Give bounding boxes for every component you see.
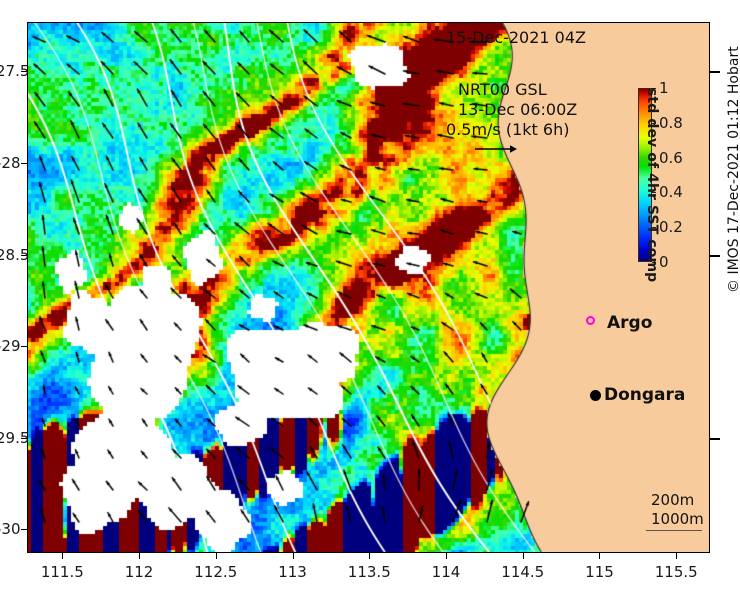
x-axis-tick [216, 553, 217, 559]
x-axis-tick [676, 553, 677, 559]
colorbar-tick-label: 0.8 [659, 114, 683, 132]
timestamp-label: 15-Dec-2021 04Z [446, 28, 586, 47]
sst-std-dev-raster [27, 22, 710, 553]
colorbar-tick [652, 227, 656, 228]
x-axis-tick [293, 553, 294, 559]
source-time-label: 13-Dec 06:00Z [458, 100, 577, 119]
argo-marker-icon [586, 316, 595, 325]
contour-legend-rule [646, 530, 702, 531]
x-axis-tick [523, 553, 524, 559]
contour-label-200m: 200m [651, 491, 694, 509]
y-axis-tick-right [710, 255, 720, 257]
colorbar-tick-label: 0 [659, 253, 669, 271]
x-axis-tick-label: 114.5 [501, 563, 544, 581]
velocity-scale-label: 0.5m/s (1kt 6h) [446, 120, 569, 139]
colorbar-tick-label: 0.6 [659, 149, 683, 167]
y-axis-tick-label: 28.5 [0, 246, 15, 264]
contour-label-1000m: 1000m [651, 510, 704, 528]
x-axis-tick-label: 115 [585, 563, 614, 581]
argo-label: Argo [607, 313, 652, 333]
colorbar-tick [652, 192, 656, 193]
figure-canvas: 15-Dec-2021 04Z NRT00 GSL 13-Dec 06:00Z … [0, 0, 740, 592]
colorbar-tick-label: 0.4 [659, 183, 683, 201]
x-axis-tick [62, 553, 63, 559]
y-axis-tick [21, 529, 27, 530]
x-axis-tick-label: 115.5 [655, 563, 698, 581]
y-axis-tick-right [710, 438, 720, 440]
x-axis-tick-label: 112 [125, 563, 154, 581]
source-product-label: NRT00 GSL [458, 80, 547, 99]
y-axis-tick-label: -30 [0, 520, 15, 538]
x-axis-tick [139, 553, 140, 559]
x-axis-tick-label: 114 [432, 563, 461, 581]
y-axis-tick-label: 29.5 [0, 429, 15, 447]
map-plot-area [27, 22, 710, 553]
y-axis-tick-right [710, 71, 720, 73]
x-axis-tick [446, 553, 447, 559]
colorbar-tick-label: 1 [659, 79, 669, 97]
copyright-credit: © IMOS 17-Dec-2021 01:12 Hobart [726, 23, 740, 293]
colorbar-title: std dev of 4hr SST comp [640, 88, 660, 262]
y-axis-tick-label: -29 [0, 337, 15, 355]
dongara-marker-icon [590, 390, 601, 401]
y-axis-tick-label: 27.5 [0, 62, 15, 80]
colorbar-tick [652, 158, 656, 159]
colorbar-tick [652, 123, 656, 124]
colorbar-tick [652, 88, 656, 89]
x-axis-tick-label: 113 [278, 563, 307, 581]
x-axis-tick-label: 113.5 [348, 563, 391, 581]
y-axis-tick [21, 163, 27, 164]
dongara-label: Dongara [604, 385, 685, 405]
y-axis-tick-label: -28 [0, 154, 15, 172]
colorbar-tick [652, 262, 656, 263]
x-axis-tick-label: 112.5 [194, 563, 237, 581]
reference-arrow-icon [474, 144, 518, 154]
x-axis-tick [599, 553, 600, 559]
colorbar-tick-label: 0.2 [659, 218, 683, 236]
x-axis-tick [369, 553, 370, 559]
x-axis-tick-label: 111.5 [41, 563, 84, 581]
y-axis-tick [21, 346, 27, 347]
